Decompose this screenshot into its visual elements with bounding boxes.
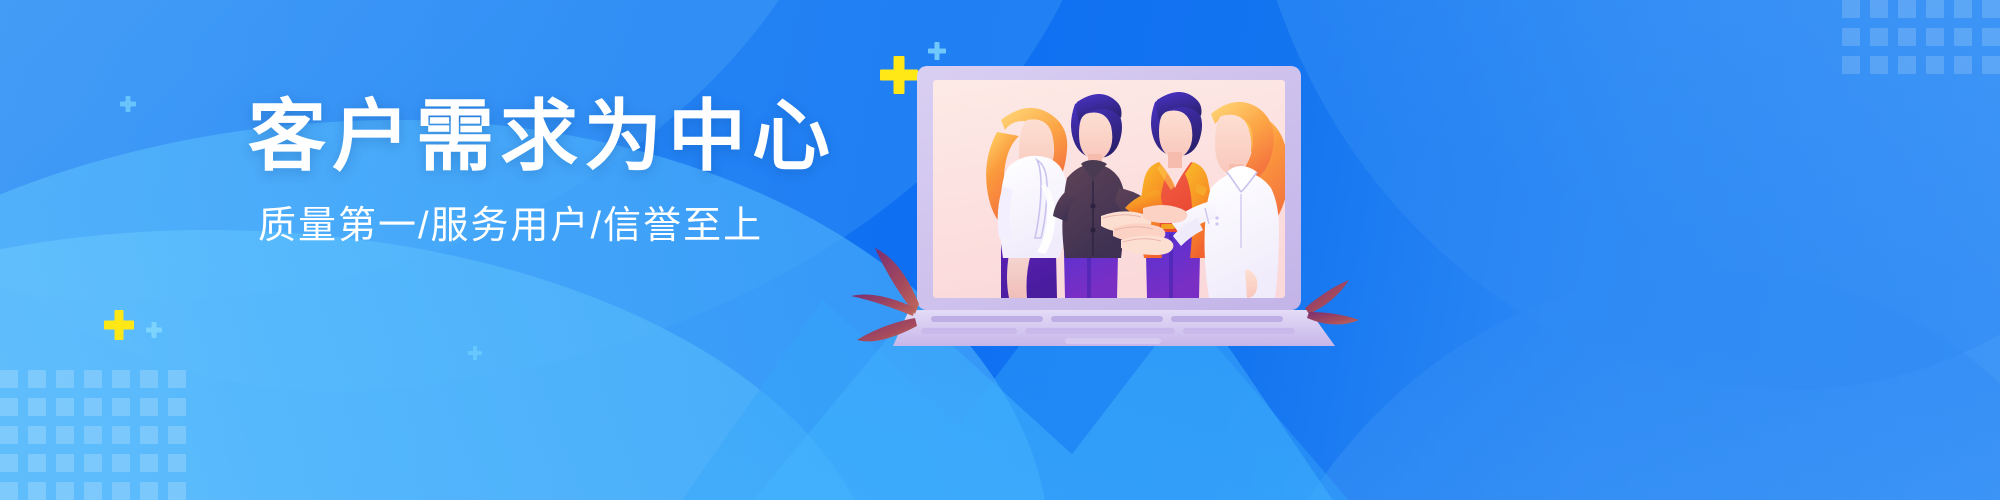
laptop-keyboard-row-5 xyxy=(1025,328,1175,334)
laptop-teamwork-illustration xyxy=(905,58,1335,358)
laptop-keyboard-row-4 xyxy=(921,328,1017,334)
background-wave-bottom-right xyxy=(1220,270,2000,500)
square-grid-bottom-left-icon xyxy=(0,370,186,500)
plus-sparkle-cyan-tiny-icon xyxy=(146,322,162,338)
background-wave-lower-left-2 xyxy=(0,230,880,500)
decor-leaves-right xyxy=(1305,280,1359,325)
laptop-keyboard-row-1 xyxy=(931,316,1043,322)
laptop-trackpad xyxy=(1065,338,1161,344)
laptop-keyboard-row-6 xyxy=(1183,328,1295,334)
laptop-keyboard-row-2 xyxy=(1051,316,1163,322)
banner-headline: 客户需求为中心 xyxy=(248,96,888,178)
plus-sparkle-cyan-lower-icon xyxy=(468,346,482,360)
plus-sparkle-yellow-small-icon xyxy=(104,310,134,340)
laptop-keyboard-row-3 xyxy=(1171,316,1283,322)
square-grid-top-right-icon xyxy=(1842,0,2000,74)
banner-text-block: 客户需求为中心 质量第一/服务用户/信誉至上 xyxy=(248,96,888,249)
background-wave-top-right xyxy=(1240,0,2000,390)
marketing-banner: 客户需求为中心 质量第一/服务用户/信誉至上 xyxy=(0,0,2000,500)
decor-leaves-left xyxy=(851,248,919,341)
plus-sparkle-cyan-topleft-icon xyxy=(120,96,136,112)
banner-subheadline: 质量第一/服务用户/信誉至上 xyxy=(258,204,888,250)
